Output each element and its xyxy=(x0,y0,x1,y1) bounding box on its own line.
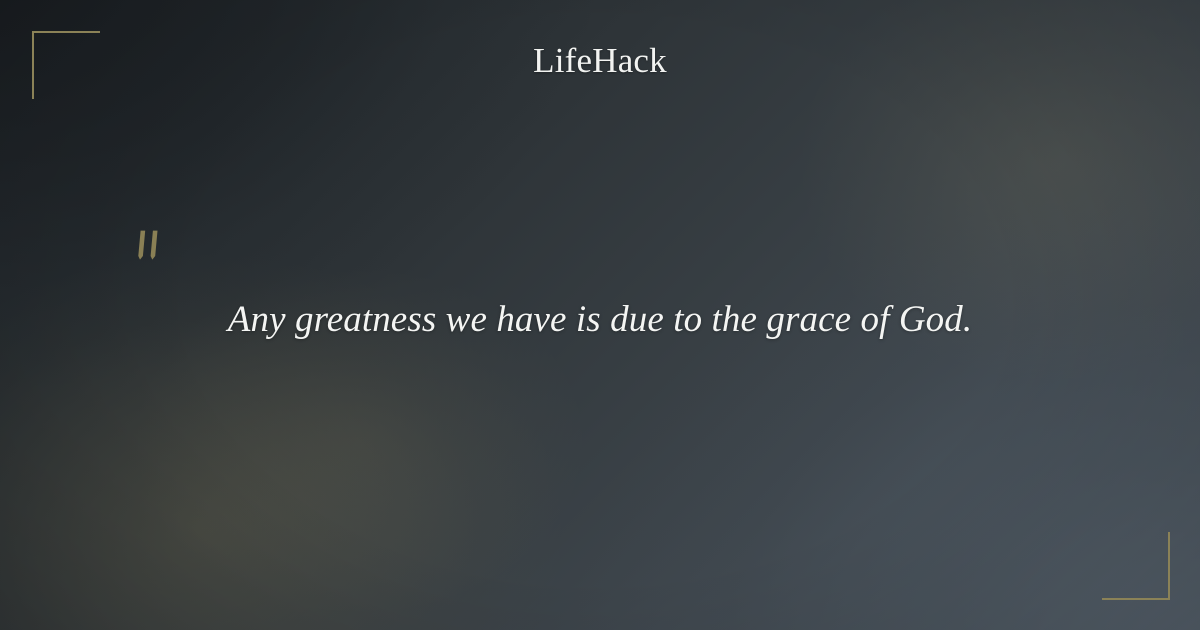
brand-logo: LifeHack xyxy=(0,41,1200,81)
corner-bracket-bottom-right-icon xyxy=(1102,532,1170,600)
quote-card: LifeHack Any greatness we have is due to… xyxy=(0,0,1200,630)
double-quote-mark-icon xyxy=(134,229,174,269)
quote-text: Any greatness we have is due to the grac… xyxy=(120,296,1080,345)
